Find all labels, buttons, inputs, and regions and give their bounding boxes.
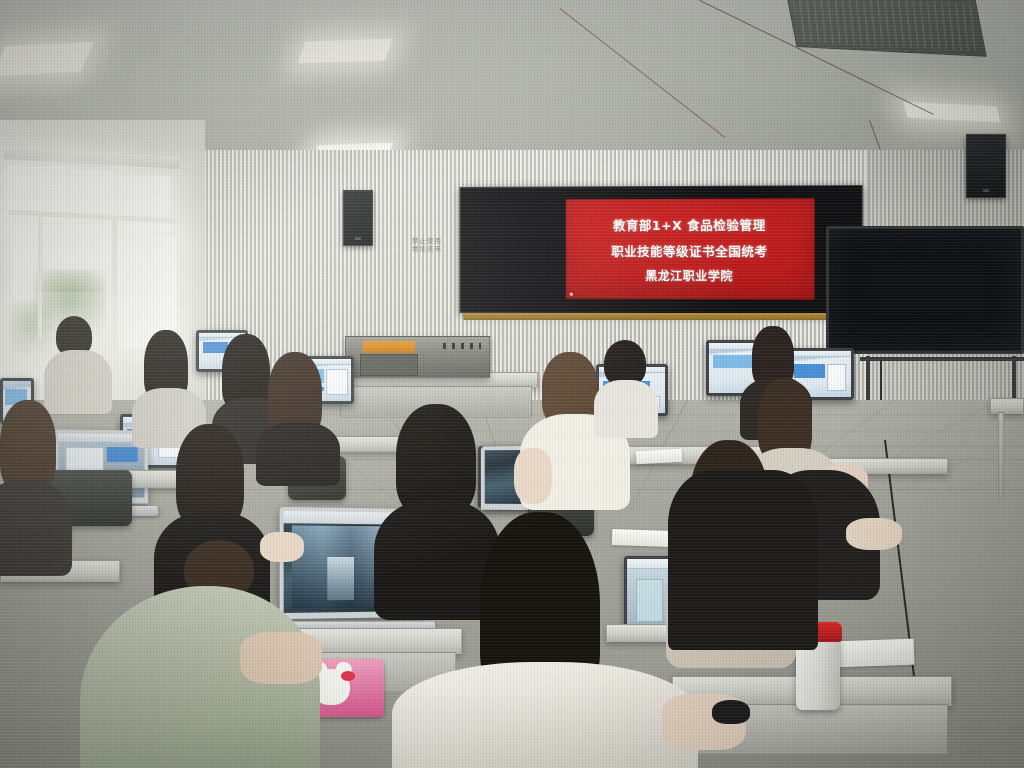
wall-notice-sign: 禁止使用 地插充电: [406, 232, 448, 258]
student-torso: [44, 350, 112, 414]
paper-sheet-2: [612, 529, 671, 547]
ceiling-light-4: [904, 102, 1001, 123]
analyzer-orange-panel: [363, 341, 415, 353]
ceiling-air-vent: [785, 0, 987, 57]
monitor-panel: [326, 369, 347, 395]
ceiling-light-1: [0, 42, 94, 76]
classroom-photo: 禁止使用 地插充电 教育部1+X 食品检验管理 职业技能等级证书全国统考 黑龙江…: [0, 0, 1024, 768]
monitor-blue-region: [713, 355, 755, 368]
student-torso: [256, 422, 340, 486]
student-torso: [392, 662, 698, 768]
student-arm: [240, 632, 322, 684]
monitor-blue-region: [794, 364, 825, 378]
monitor-panel: [636, 579, 663, 621]
screen-title-line-3: 黑龙江职业学院: [645, 266, 733, 283]
monitor-toolbar: [789, 351, 851, 357]
student-torso: [0, 480, 72, 576]
hello-kitty-bow-icon: [341, 671, 355, 681]
student-arm: [846, 518, 902, 550]
front-projection-board: 教育部1+X 食品检验管理 职业技能等级证书全国统考 黑龙江职业学院: [460, 185, 863, 315]
analyzer-door: [360, 354, 418, 376]
student-arm: [514, 448, 552, 504]
window-pane-upper-right: [120, 176, 170, 232]
paper-sheet-4: [836, 639, 915, 668]
monitor-panel: [827, 364, 846, 391]
side-table-right: [990, 398, 1024, 414]
projection-screen: 教育部1+X 食品检验管理 职业技能等级证书全国统考 黑龙江职业学院: [566, 198, 815, 299]
panel-stand-crossbar: [860, 357, 1024, 361]
wall-sign-line-2: 地插充电: [412, 246, 442, 253]
projector-pixel-marker: [570, 293, 573, 296]
lab-analyzer: [345, 336, 490, 378]
student-hair: [0, 400, 56, 492]
window-mullion-vertical-2: [112, 220, 117, 348]
window-foliage-2: [10, 302, 54, 354]
wall-speaker-right: [966, 134, 1006, 198]
screen-title-line-2: 职业技能等级证书全国统考: [611, 240, 767, 259]
analyzer-controls: [443, 343, 481, 349]
wall-sign-line-1: 禁止使用: [412, 238, 442, 245]
window-mullion-vertical-1: [38, 214, 42, 338]
student-torso: [668, 470, 818, 650]
student-arm: [260, 532, 304, 562]
wall-speaker-left: [343, 190, 373, 246]
screen-title-line-1: 教育部1+X 食品检验管理: [613, 214, 766, 233]
side-table-right-leg: [998, 412, 1004, 498]
laptop-ui-blue: [107, 447, 138, 462]
ceiling-light-2: [298, 39, 392, 64]
window-pane-upper-left: [8, 166, 66, 214]
ceiling-cable-1: [559, 8, 725, 138]
board-ledge: [464, 313, 861, 320]
interactive-flat-panel[interactable]: [826, 226, 1024, 354]
window-pane-upper-mid: [72, 170, 114, 212]
computer-mouse[interactable]: [712, 700, 750, 724]
student-torso: [594, 380, 658, 438]
paper-sheet-1: [636, 449, 683, 464]
